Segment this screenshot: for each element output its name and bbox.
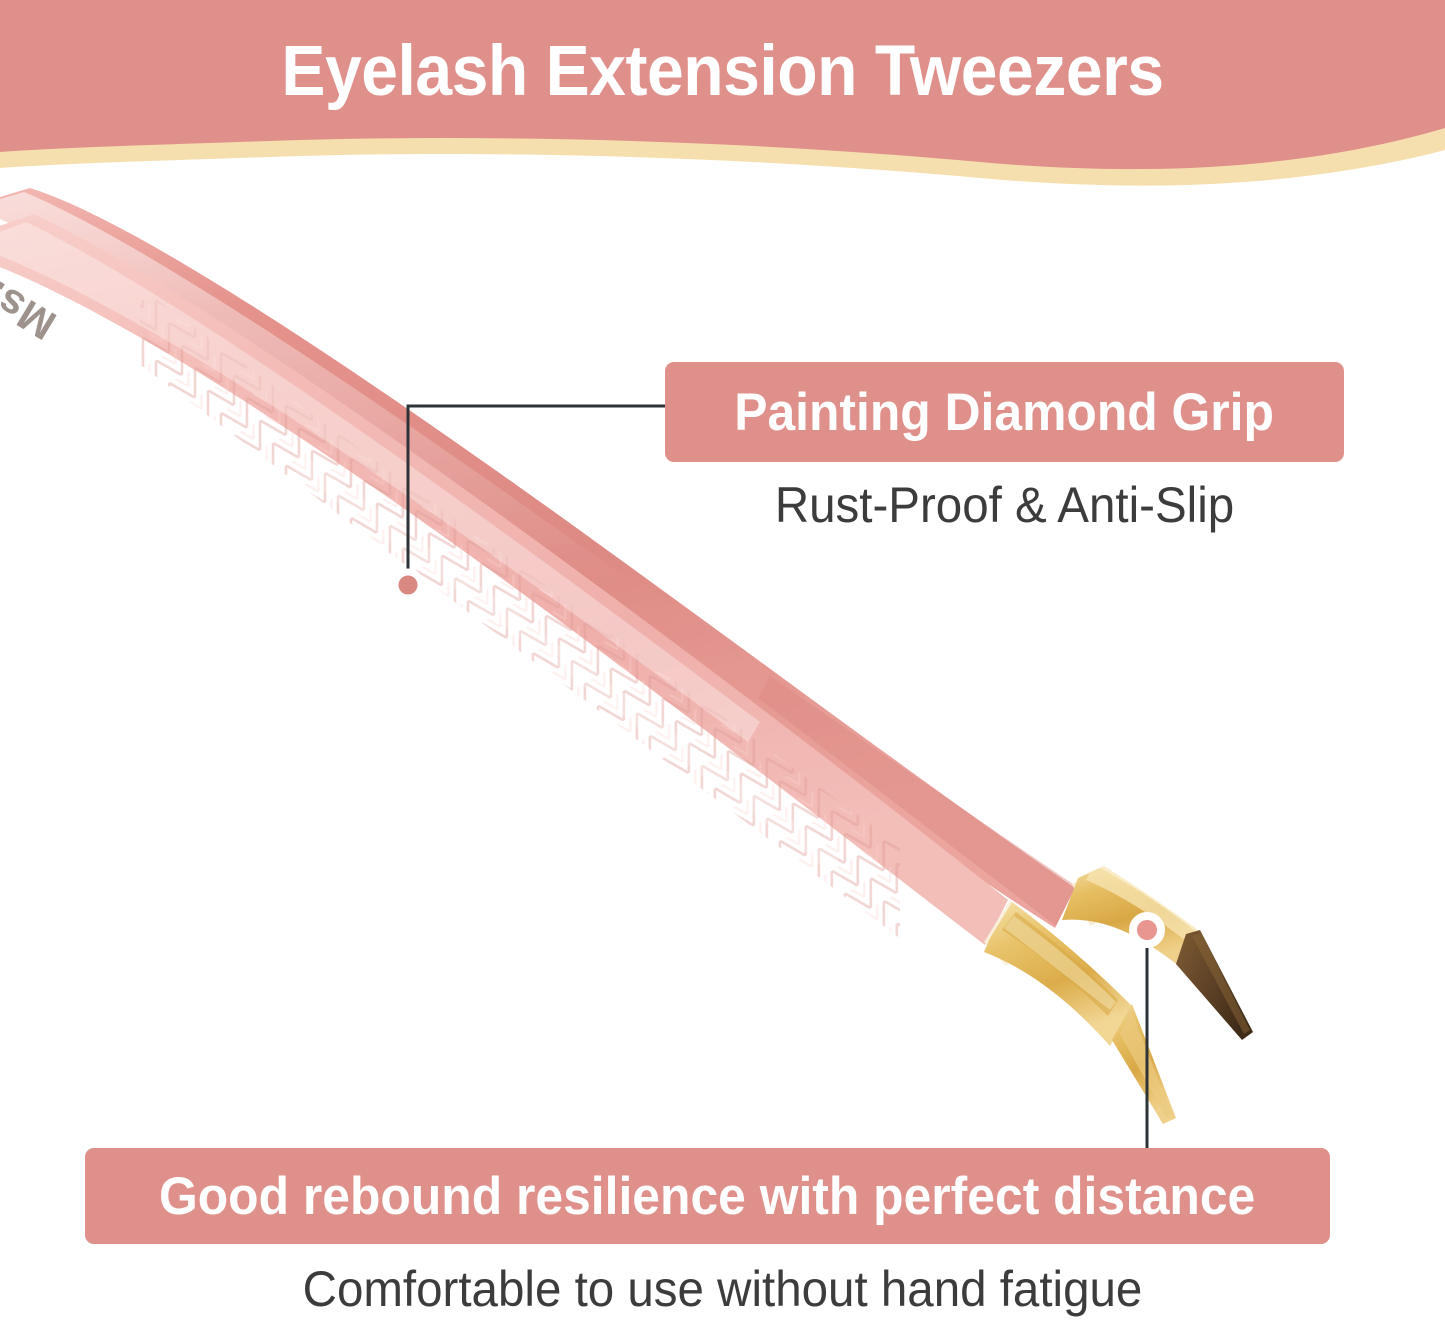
- filled-ring-marker: [1133, 916, 1161, 944]
- product-infographic: Eyelash Extension Tweezers: [0, 0, 1445, 1328]
- callout-grip-label: Painting Diamond Grip: [735, 386, 1275, 439]
- open-ring-marker: [395, 572, 421, 598]
- callout-leader-lines: [0, 0, 1445, 1328]
- callout-grip-sublabel: Rust-Proof & Anti-Slip: [682, 478, 1327, 533]
- callout-rebound-box: Good rebound resilience with perfect dis…: [85, 1148, 1330, 1244]
- leader-line-grip: [408, 406, 668, 585]
- callout-rebound-sublabel: Comfortable to use without hand fatigue: [36, 1262, 1409, 1317]
- callout-rebound-label: Good rebound resilience with perfect dis…: [159, 1170, 1255, 1223]
- callout-grip-box: Painting Diamond Grip: [665, 362, 1344, 462]
